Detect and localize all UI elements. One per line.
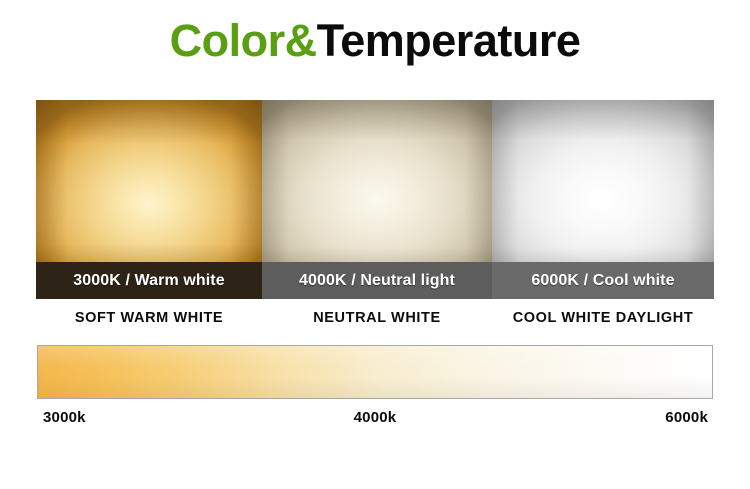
page-title-green-part: Color& [170,15,317,66]
scale-tick-6000k: 6000k [665,409,708,426]
panel-warm-white: 3000K / Warm white [36,100,262,299]
caption-bar-neutral-light: 4000K / Neutral light [262,262,492,299]
page-title-black-part: Temperature [317,15,581,66]
caption-bar-cool-white: 6000K / Cool white [492,262,714,299]
sublabel-soft-warm-white: SOFT WARM WHITE [36,310,262,326]
sublabel-cool-white-daylight: COOL WHITE DAYLIGHT [492,310,714,326]
panel-cool-white: 6000K / Cool white [492,100,714,299]
caption-bar-warm-white: 3000K / Warm white [36,262,262,299]
panel-sublabels: SOFT WARM WHITE NEUTRAL WHITE COOL WHITE… [36,310,714,326]
page-title: Color&Temperature [0,18,750,63]
scale-tick-4000k: 4000k [36,409,714,426]
sublabel-neutral-white: NEUTRAL WHITE [262,310,492,326]
color-temperature-gradient-bar [37,345,713,399]
gradient-bar-sheen [38,346,712,398]
gradient-scale-tick-labels: 3000k 4000k 6000k [36,409,714,429]
color-temperature-panels: 3000K / Warm white 4000K / Neutral light… [36,100,714,299]
caption-label-neutral-light: 4000K / Neutral light [299,272,455,290]
panel-neutral-light: 4000K / Neutral light [262,100,492,299]
caption-label-cool-white: 6000K / Cool white [531,272,674,290]
caption-label-warm-white: 3000K / Warm white [73,272,224,290]
